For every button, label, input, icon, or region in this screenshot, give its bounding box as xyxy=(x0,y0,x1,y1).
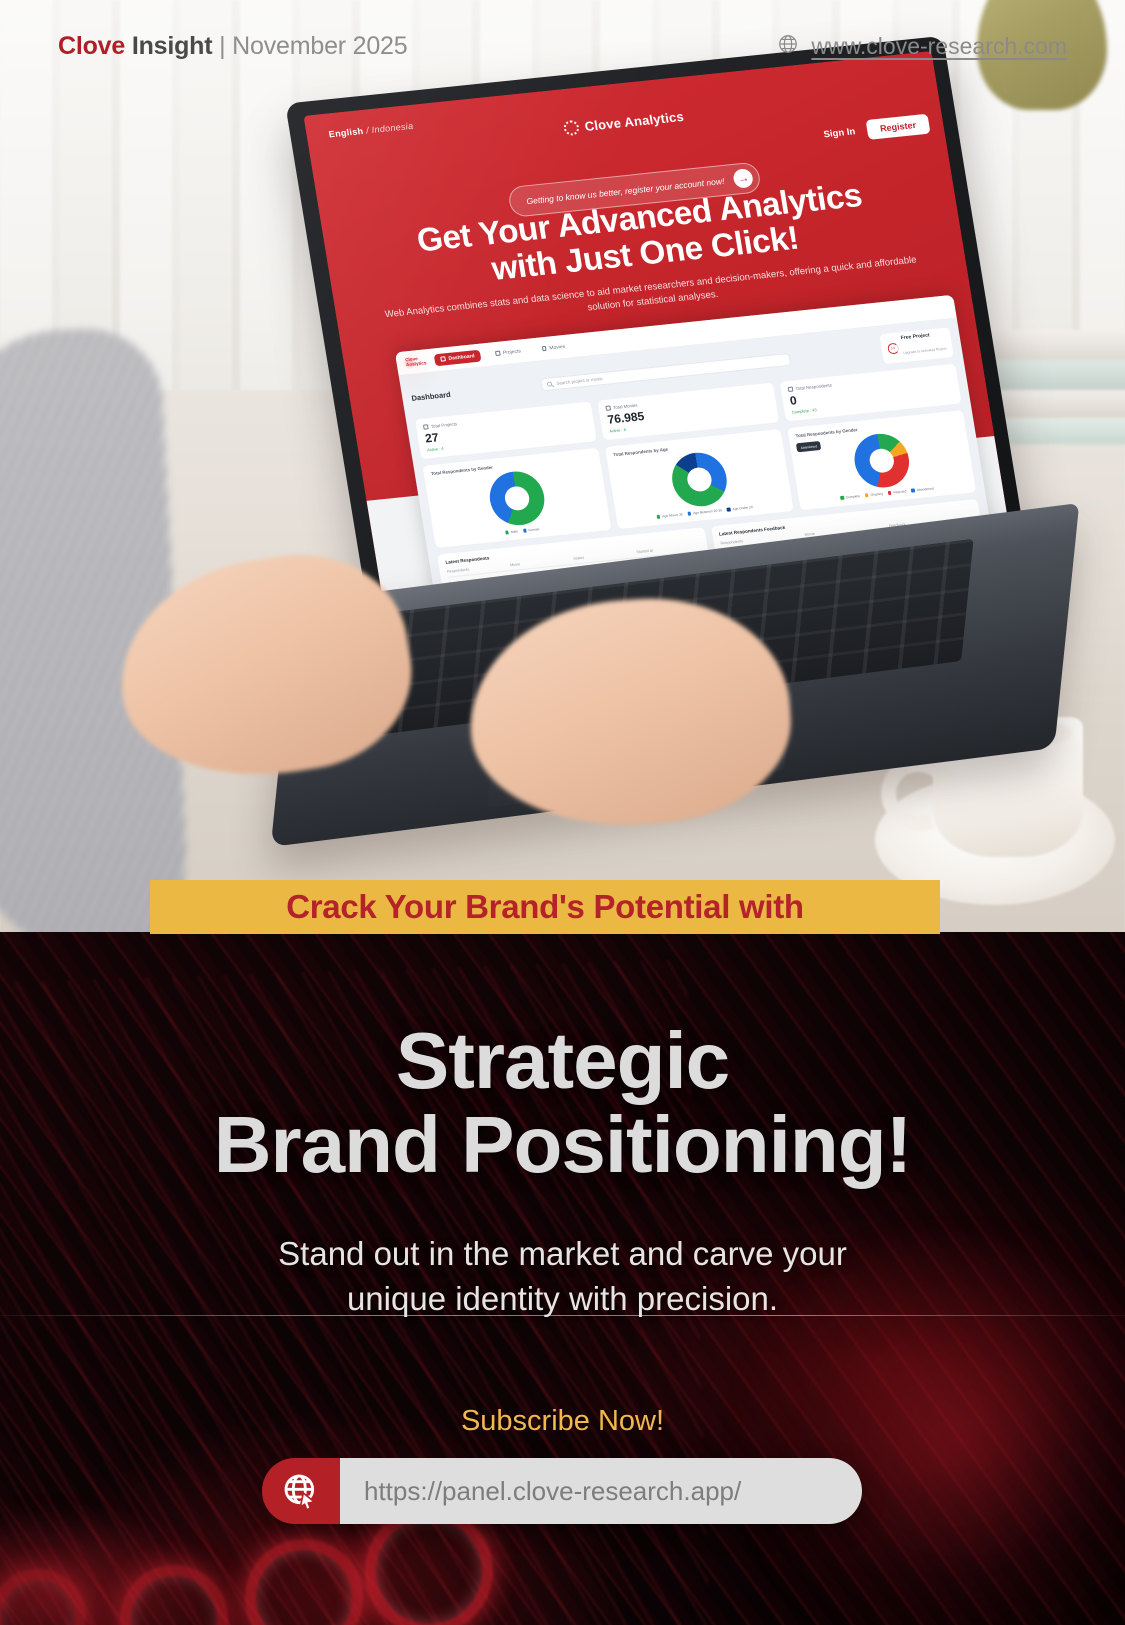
dashboard-page-title: Dashboard xyxy=(411,389,452,402)
legend-item: Age Under 20 xyxy=(727,505,753,512)
dashboard-search-placeholder: Search project or movie xyxy=(556,376,603,386)
free-project-title: Free Project xyxy=(900,331,944,341)
sign-in-link[interactable]: Sign In xyxy=(823,126,856,140)
folder-icon xyxy=(423,425,428,430)
hero-headline-line1: Strategic xyxy=(0,1020,1125,1102)
hero-headline: Strategic Brand Positioning! xyxy=(0,1020,1125,1188)
tab-dashboard-label: Dashboard xyxy=(448,353,475,362)
clove-logo-icon xyxy=(563,120,580,136)
photo-scene: CL CH English / Indonesia Clove Analytic… xyxy=(0,0,1125,935)
website-link-group[interactable]: www.clove-research.com xyxy=(777,33,1067,60)
free-project-count: 13 xyxy=(886,342,899,354)
legend-item: Abandoned xyxy=(911,486,934,492)
donut-chart-gender xyxy=(486,469,549,528)
arrow-right-icon[interactable]: → xyxy=(733,168,755,189)
film-icon xyxy=(605,406,610,411)
tab-projects-label: Projects xyxy=(502,348,521,356)
search-icon xyxy=(547,381,553,386)
poster-root: CL CH English / Indonesia Clove Analytic… xyxy=(0,0,1125,1625)
masthead: Clove Insight | November 2025 xyxy=(58,32,407,61)
donut-chart-status xyxy=(851,431,914,490)
globe-cursor-icon[interactable] xyxy=(262,1458,340,1524)
legend-item: Ongoing xyxy=(865,492,884,498)
legend-item: Complete xyxy=(840,494,860,500)
eyebrow-banner: Crack Your Brand's Potential with xyxy=(150,880,940,934)
subscribe-url-input[interactable]: https://panel.clove-research.app/ xyxy=(340,1458,862,1524)
folder-icon xyxy=(495,351,500,356)
hero-subhead-line1: Stand out in the market and carve your xyxy=(0,1232,1125,1277)
legend-item: Age Above 30 xyxy=(656,512,683,519)
legend-item: Age Between 20-30 xyxy=(687,508,722,515)
brand-clove: Clove xyxy=(58,32,125,60)
tab-dashboard[interactable]: Dashboard xyxy=(434,349,481,366)
eyebrow-banner-text: Crack Your Brand's Potential with xyxy=(286,888,804,926)
poster-header: Clove Insight | November 2025 www.clove-… xyxy=(0,0,1125,92)
language-separator: / xyxy=(365,125,369,135)
globe-icon xyxy=(777,33,799,60)
tab-projects[interactable]: Projects xyxy=(489,344,528,360)
tab-movies-label: Movies xyxy=(549,343,566,351)
website-url[interactable]: www.clove-research.com xyxy=(811,33,1067,60)
donut-chart-age xyxy=(668,450,731,509)
subscribe-url-bar[interactable]: https://panel.clove-research.app/ xyxy=(262,1458,862,1524)
section-divider xyxy=(0,1315,1125,1316)
hero-headline-line2: Brand Positioning! xyxy=(0,1102,1125,1188)
subscribe-label: Subscribe Now! xyxy=(0,1405,1125,1438)
free-project-text: Free Project Upgrade to Unlimited Projec… xyxy=(900,331,947,359)
chart-card-gender: Total Respondents by Gender Male Female xyxy=(423,448,612,548)
legend-item: Male xyxy=(505,529,518,534)
legend-item: Rejected xyxy=(888,489,907,495)
legend-item: Female xyxy=(523,527,540,533)
chart-card-status: Total Respondents by Gender Abandoned Co… xyxy=(787,410,976,510)
free-project-subtitle: Upgrade to Unlimited Project xyxy=(903,347,947,355)
tab-movies[interactable]: Movies xyxy=(535,340,572,355)
free-project-badge[interactable]: 13 Free Project Upgrade to Unlimited Pro… xyxy=(879,327,954,364)
users-icon xyxy=(788,387,793,392)
grid-icon xyxy=(441,356,446,361)
hero-subhead: Stand out in the market and carve your u… xyxy=(0,1232,1125,1322)
film-icon xyxy=(541,346,546,351)
dashboard-logo: CloveAnalytics xyxy=(405,356,427,368)
issue-date: | November 2025 xyxy=(219,32,407,60)
brand-insight: Insight xyxy=(132,32,213,60)
chart-card-age: Total Respondents by Age Age Above 30 Ag… xyxy=(605,429,794,529)
